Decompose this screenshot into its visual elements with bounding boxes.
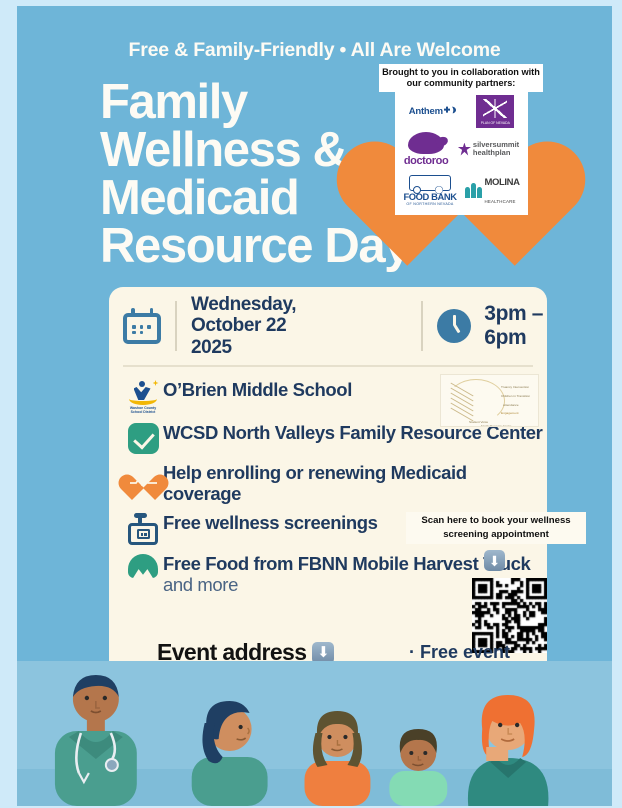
feature-icon [123,421,163,454]
feature-text: O’Brien Middle School [163,378,352,400]
wcsd-line2: School District [131,410,156,414]
molina-name: MOLINA [484,177,519,188]
calendar-icon [123,308,161,344]
logo-doctoroo-label: doctoroo [404,155,448,167]
molina-sub: HEALTHCARE [484,199,515,204]
wcsd-logo-text: Washoe County School District [128,406,159,414]
feature-text: Free wellness screenings [163,511,378,533]
flyer-root: Free & Family-Friendly • All Are Welcome… [0,0,622,808]
silversummit-sub: healthplan [473,148,511,157]
logo-molina-text: MOLINA HEALTHCARE [484,172,519,208]
logo-anthem-label: Anthem [409,106,443,117]
logo-food-bank: FOOD BANK OF NORTHERN NEVADA [403,175,456,206]
feature-text-soft: and more [163,574,238,595]
partner-logos-panel: Anthem PLAN OF NEVADA d [395,90,528,215]
feature-icon [123,511,163,545]
divider [421,301,423,351]
feature-icon [123,461,163,492]
clock-icon [437,309,471,343]
molina-people-icon [465,183,482,198]
anthem-cross-icon [443,106,457,114]
logo-food-bank-sub: OF NORTHERN NEVADA [403,202,456,206]
event-date: Wednesday, October 22 2025 [191,294,296,358]
doctoroo-kangaroo-icon [408,132,444,154]
logo-silversummit-label: silversummit healthplan [473,141,519,157]
blood-pressure-monitor-icon [128,513,158,545]
list-item: Help enrolling or renewing Medicaid cove… [123,461,547,504]
info-card: Wednesday, October 22 2025 3pm – 6pm Was… [109,287,547,677]
logo-silversummit: silversummit healthplan [458,141,519,157]
diagram-label: Attendance [503,403,519,407]
washoe-county-school-district-logo: Washoe County School District [128,380,159,414]
partners-block: Brought to you in collaboration with our… [371,64,551,234]
logo-food-bank-label: FOOD BANK [403,191,456,202]
diagram-label: Truancy Intervention [501,385,529,389]
partners-caption: Brought to you in collaboration with our… [379,64,543,92]
free-event-note: · Free event [409,642,510,663]
food-bank-truck-icon [409,175,451,191]
down-arrow-icon: ⬇ [484,550,505,571]
tagline: Free & Family-Friendly • All Are Welcome [17,39,612,62]
logo-molina: MOLINA HEALTHCARE [465,172,519,208]
check-icon [128,423,159,454]
divider [175,301,177,351]
logo-doctoroo: doctoroo [404,132,448,167]
diagram-label: Children in Transition [501,394,530,398]
resource-center-diagram-thumbnail: Truancy Intervention Children in Transit… [440,374,539,427]
food-dome-icon [127,554,159,582]
feature-icon [123,552,163,582]
heart-pulse-icon [127,463,160,492]
logo-hpn-sub: PLAN OF NEVADA [481,122,510,126]
family-and-healthcare-worker-illustration [17,661,612,806]
feature-text: Help enrolling or renewing Medicaid cove… [163,461,547,504]
diagram-label: Family Resource Center [481,424,511,427]
scan-instructions: Scan here to book your wellness screenin… [406,512,586,544]
silversummit-star-icon [458,143,471,156]
feature-icon: Washoe County School District [123,378,163,414]
logo-health-plan-of-nevada: PLAN OF NEVADA [476,95,514,128]
logo-anthem: Anthem [409,106,457,117]
datetime-row: Wednesday, October 22 2025 3pm – 6pm [109,287,547,365]
flyer-panel: Free & Family-Friendly • All Are Welcome… [17,6,612,806]
event-time: 3pm – 6pm [484,302,543,349]
feature-text-main: Free Food from FBNN Mobile Harvest Truck [163,553,530,574]
diagram-label: Engagement [501,411,519,415]
